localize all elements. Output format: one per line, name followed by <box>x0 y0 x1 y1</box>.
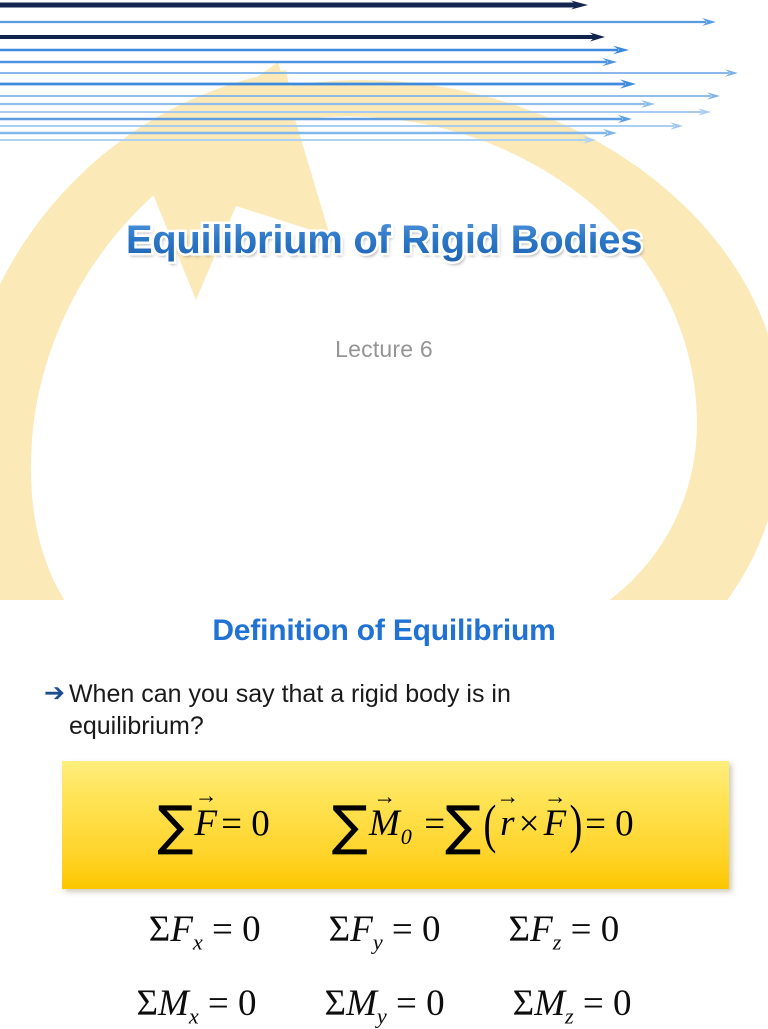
equation-sum-fy: ΣFy = 0 <box>329 908 441 955</box>
equation-highlight-box: ∑F = 0 ∑M0 =∑(r × F)= 0 <box>62 761 729 889</box>
equation-sum-forces-vector: ∑F = 0 <box>157 794 269 857</box>
equation-sum-my: ΣMy = 0 <box>325 982 445 1029</box>
section-heading: Definition of Equilibrium <box>0 614 768 648</box>
equation-sum-mz: ΣMz = 0 <box>513 982 632 1029</box>
arrow-right-icon: ➔ <box>44 678 65 708</box>
bullet-item-label: When can you say that a rigid body is in… <box>69 678 604 742</box>
scalar-moment-equations-row: ΣMx = 0 ΣMy = 0 ΣMz = 0 <box>0 982 768 1029</box>
equation-sum-moments-vector: ∑M0 =∑(r × F)= 0 <box>332 793 634 857</box>
bullet-item: ➔ When can you say that a rigid body is … <box>44 678 604 742</box>
arrow-stripes-band <box>0 0 768 150</box>
page-title: Equilibrium of Rigid Bodies <box>126 218 642 263</box>
page-subtitle: Lecture 6 <box>0 336 768 363</box>
scalar-force-equations-row: ΣFx = 0 ΣFy = 0 ΣFz = 0 <box>0 908 768 955</box>
equation-sum-fx: ΣFx = 0 <box>149 908 261 955</box>
circular-arrow-watermark <box>0 0 768 600</box>
title-slide: Equilibrium of Rigid Bodies Equilibrium … <box>0 0 768 600</box>
equation-sum-fz: ΣFz = 0 <box>509 908 620 955</box>
equation-sum-mx: ΣMx = 0 <box>136 982 256 1029</box>
